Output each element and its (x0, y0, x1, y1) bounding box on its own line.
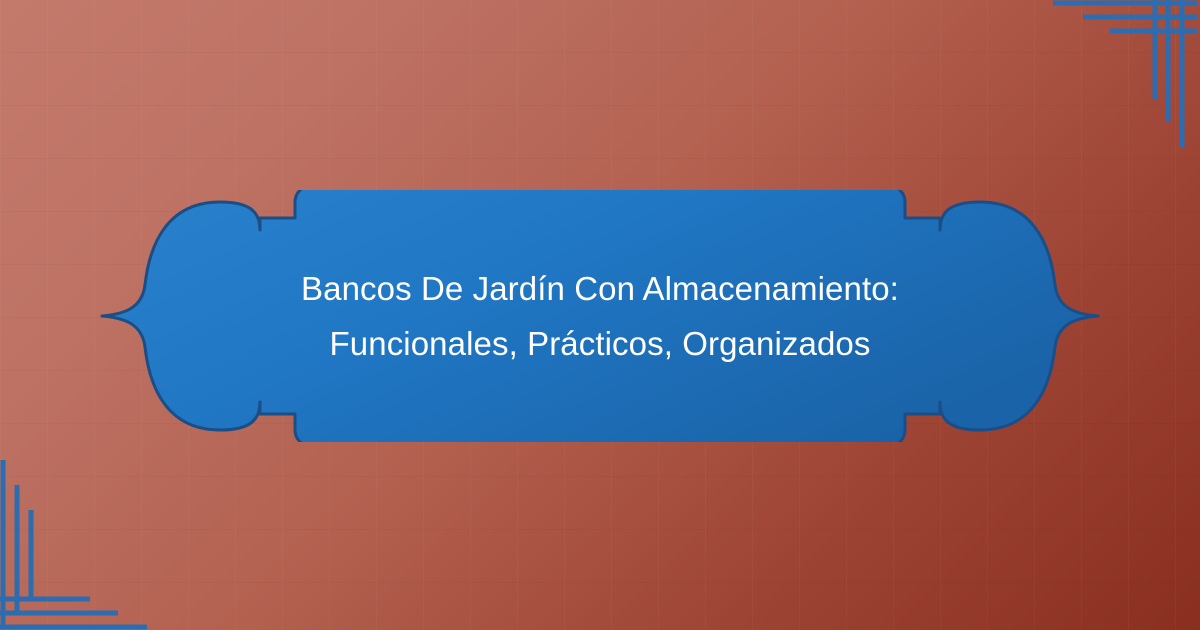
title-banner: Bancos De Jardín Con Almacenamiento: Fun… (100, 190, 1100, 442)
corner-bracket-top-right-svg (1000, 0, 1200, 190)
title-line-1: Bancos De Jardín Con Almacenamiento: (301, 264, 899, 314)
poster-canvas: Bancos De Jardín Con Almacenamiento: Fun… (0, 0, 1200, 630)
title-text-block: Bancos De Jardín Con Almacenamiento: Fun… (250, 190, 950, 442)
title-line-2: Funcionales, Prácticos, Organizados (330, 319, 871, 369)
corner-bracket-bottom-left (0, 440, 200, 630)
corner-bracket-top-right (1000, 0, 1200, 190)
corner-bracket-bottom-left-svg (0, 440, 200, 630)
